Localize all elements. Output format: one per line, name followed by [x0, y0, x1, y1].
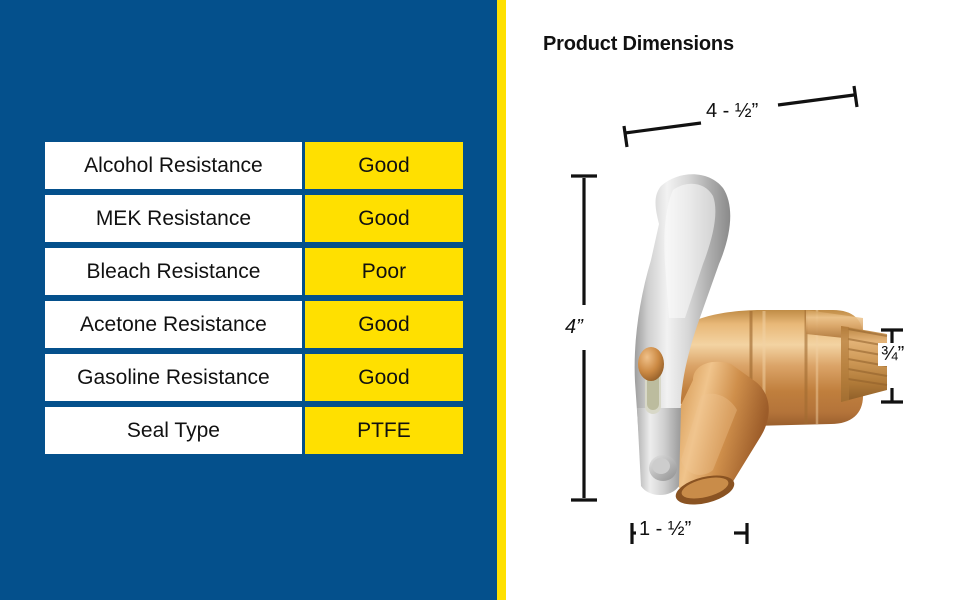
table-row: MEK Resistance Good	[42, 192, 466, 245]
spec-value: Good	[305, 192, 466, 245]
spec-value: Poor	[305, 245, 466, 298]
spec-property: Seal Type	[42, 404, 305, 457]
spec-property: Bleach Resistance	[42, 245, 305, 298]
spec-value: Good	[305, 351, 466, 404]
spec-value: Good	[305, 139, 466, 192]
table-row: Bleach Resistance Poor	[42, 245, 466, 298]
dimensions-panel: Product Dimensions	[506, 0, 970, 600]
product-spec-page: Alcohol Resistance Good MEK Resistance G…	[0, 0, 970, 600]
spec-property: Gasoline Resistance	[42, 351, 305, 404]
dimension-label-overall-width: 4 - ½”	[703, 100, 761, 123]
spec-property: Acetone Resistance	[42, 298, 305, 351]
spec-value: PTFE	[305, 404, 466, 457]
product-photo-brass-faucet	[601, 168, 891, 513]
chemical-resistance-table: Alcohol Resistance Good MEK Resistance G…	[42, 139, 466, 457]
table-row: Alcohol Resistance Good	[42, 139, 466, 192]
spec-property: MEK Resistance	[42, 192, 305, 245]
table-row: Acetone Resistance Good	[42, 298, 466, 351]
dimension-label-spout-depth: 1 - ½”	[636, 518, 694, 541]
spec-property: Alcohol Resistance	[42, 139, 305, 192]
dimension-label-thread-size: ¾”	[878, 343, 907, 366]
table-row: Gasoline Resistance Good	[42, 351, 466, 404]
table-row: Seal Type PTFE	[42, 404, 466, 457]
spec-value: Good	[305, 298, 466, 351]
page-title: Product Dimensions	[543, 33, 734, 56]
yellow-accent-stripe	[497, 0, 506, 600]
dimension-label-overall-height: 4”	[562, 316, 586, 339]
faucet-knob	[638, 347, 664, 381]
